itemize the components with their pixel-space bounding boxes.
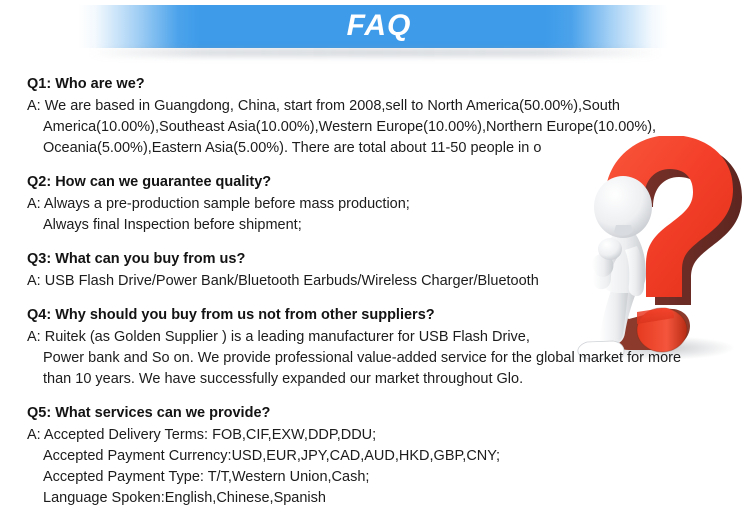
faq-question-q2: Q2: How can we guarantee quality? [27,172,727,192]
faq-question-q1: Q1: Who are we? [27,74,727,94]
faq-answer-q4-line3: than 10 years. We have successfully expa… [27,369,727,390]
faq-block-q1: Q1: Who are we? A: We are based in Guang… [27,74,727,159]
faq-answer-q5-line2: Accepted Payment Currency:USD,EUR,JPY,CA… [27,446,727,467]
faq-question-q4: Q4: Why should you buy from us not from … [27,305,727,325]
faq-header-shadow [0,48,750,57]
faq-block-q4: Q4: Why should you buy from us not from … [27,305,727,390]
faq-answer-q1-line3: Oceania(5.00%),Eastern Asia(5.00%). Ther… [27,138,727,159]
faq-question-q3: Q3: What can you buy from us? [27,249,727,269]
faq-answer-q5-line1: A: Accepted Delivery Terms: FOB,CIF,EXW,… [27,425,727,446]
faq-answer-q4-line1: A: Ruitek (as Golden Supplier ) is a lea… [27,327,727,348]
faq-question-q5: Q5: What services can we provide? [27,403,727,423]
faq-title: FAQ [347,11,412,41]
faq-answer-q1-line2: America(10.00%),Southeast Asia(10.00%),W… [27,117,727,138]
faq-block-q3: Q3: What can you buy from us? A: USB Fla… [27,249,727,292]
faq-content: Q1: Who are we? A: We are based in Guang… [27,74,727,522]
faq-answer-q1-line1: A: We are based in Guangdong, China, sta… [27,96,727,117]
faq-answer-q3-line1: A: USB Flash Drive/Power Bank/Bluetooth … [27,271,727,292]
faq-block-q2: Q2: How can we guarantee quality? A: Alw… [27,172,727,236]
faq-answer-q2-line2: Always final Inspection before shipment; [27,215,727,236]
faq-answer-q5-line4: Language Spoken:English,Chinese,Spanish [27,488,727,509]
faq-answer-q4-line2: Power bank and So on. We provide profess… [27,348,727,369]
faq-answer-q2-line1: A: Always a pre-production sample before… [27,194,727,215]
faq-block-q5: Q5: What services can we provide? A: Acc… [27,403,727,509]
faq-header-banner: FAQ [0,5,750,48]
faq-answer-q5-line3: Accepted Payment Type: T/T,Western Union… [27,467,727,488]
